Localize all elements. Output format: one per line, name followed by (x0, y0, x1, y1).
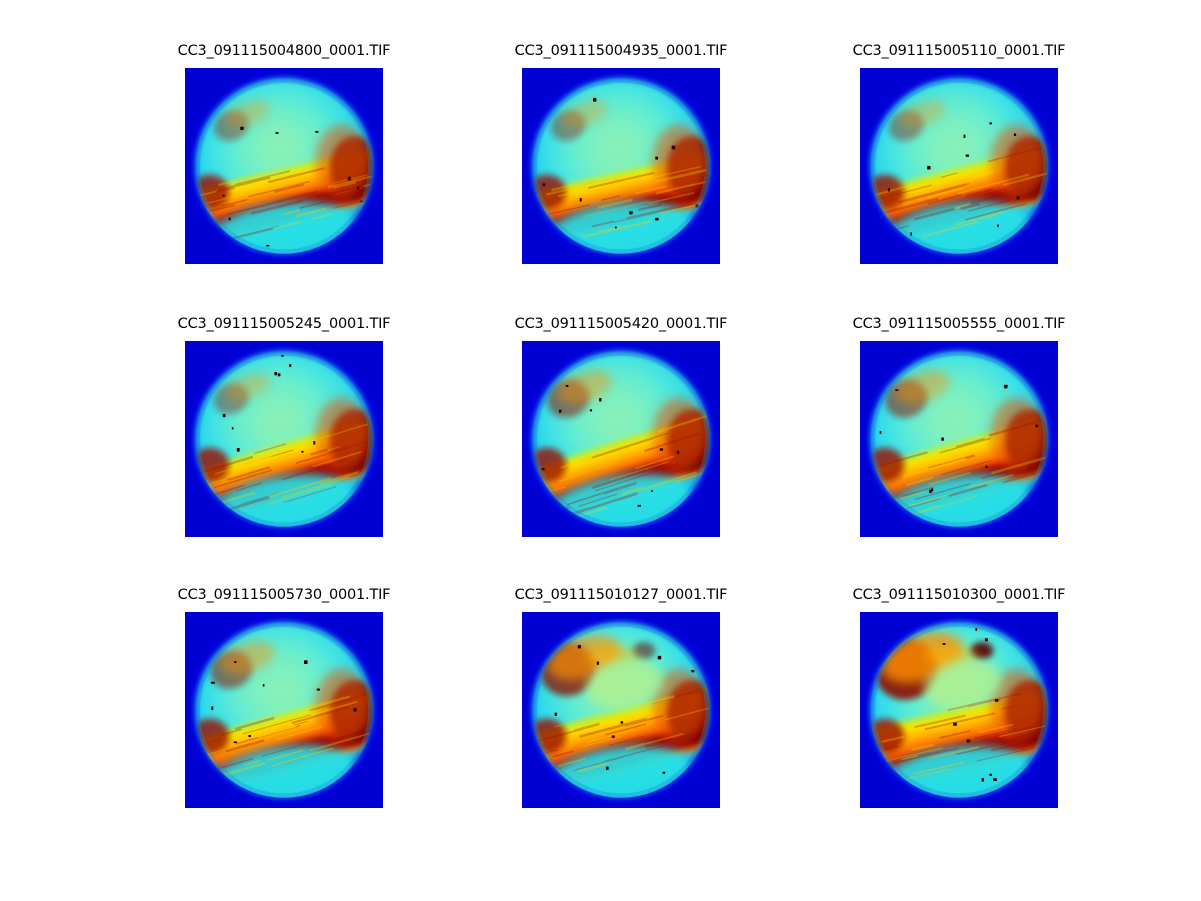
axes-area[interactable] (185, 341, 383, 537)
axes-area[interactable] (522, 341, 720, 537)
thermal-image (860, 68, 1058, 264)
panel-title: CC3_091115010300_0001.TIF (853, 586, 1066, 604)
panel-title: CC3_091115005730_0001.TIF (178, 586, 391, 604)
image-panel[interactable]: CC3_091115005110_0001.TIF (860, 68, 1058, 264)
panel-title: CC3_091115005555_0001.TIF (853, 315, 1066, 333)
panel-title: CC3_091115004935_0001.TIF (515, 42, 728, 60)
image-panel[interactable]: CC3_091115005420_0001.TIF (522, 341, 720, 537)
axes-area[interactable] (185, 612, 383, 808)
axes-area[interactable] (185, 68, 383, 264)
panel-title: CC3_091115005245_0001.TIF (178, 315, 391, 333)
thermal-image (522, 341, 720, 537)
panel-title: CC3_091115005110_0001.TIF (853, 42, 1066, 60)
thermal-image (522, 612, 720, 808)
panel-title: CC3_091115004800_0001.TIF (178, 42, 391, 60)
panel-title: CC3_091115005420_0001.TIF (515, 315, 728, 333)
image-panel[interactable]: CC3_091115005555_0001.TIF (860, 341, 1058, 537)
thermal-image (185, 68, 383, 264)
thermal-image (185, 341, 383, 537)
axes-area[interactable] (860, 341, 1058, 537)
axes-area[interactable] (522, 612, 720, 808)
image-panel[interactable]: CC3_091115010127_0001.TIF (522, 612, 720, 808)
image-panel[interactable]: CC3_091115005730_0001.TIF (185, 612, 383, 808)
thermal-image (860, 612, 1058, 808)
figure-canvas: CC3_091115004800_0001.TIFCC3_09111500493… (0, 0, 1201, 901)
image-panel[interactable]: CC3_091115004800_0001.TIF (185, 68, 383, 264)
image-panel[interactable]: CC3_091115010300_0001.TIF (860, 612, 1058, 808)
image-panel[interactable]: CC3_091115005245_0001.TIF (185, 341, 383, 537)
image-panel[interactable]: CC3_091115004935_0001.TIF (522, 68, 720, 264)
axes-area[interactable] (522, 68, 720, 264)
axes-area[interactable] (860, 612, 1058, 808)
thermal-image (185, 612, 383, 808)
panel-title: CC3_091115010127_0001.TIF (515, 586, 728, 604)
thermal-image (522, 68, 720, 264)
axes-area[interactable] (860, 68, 1058, 264)
thermal-image (860, 341, 1058, 537)
